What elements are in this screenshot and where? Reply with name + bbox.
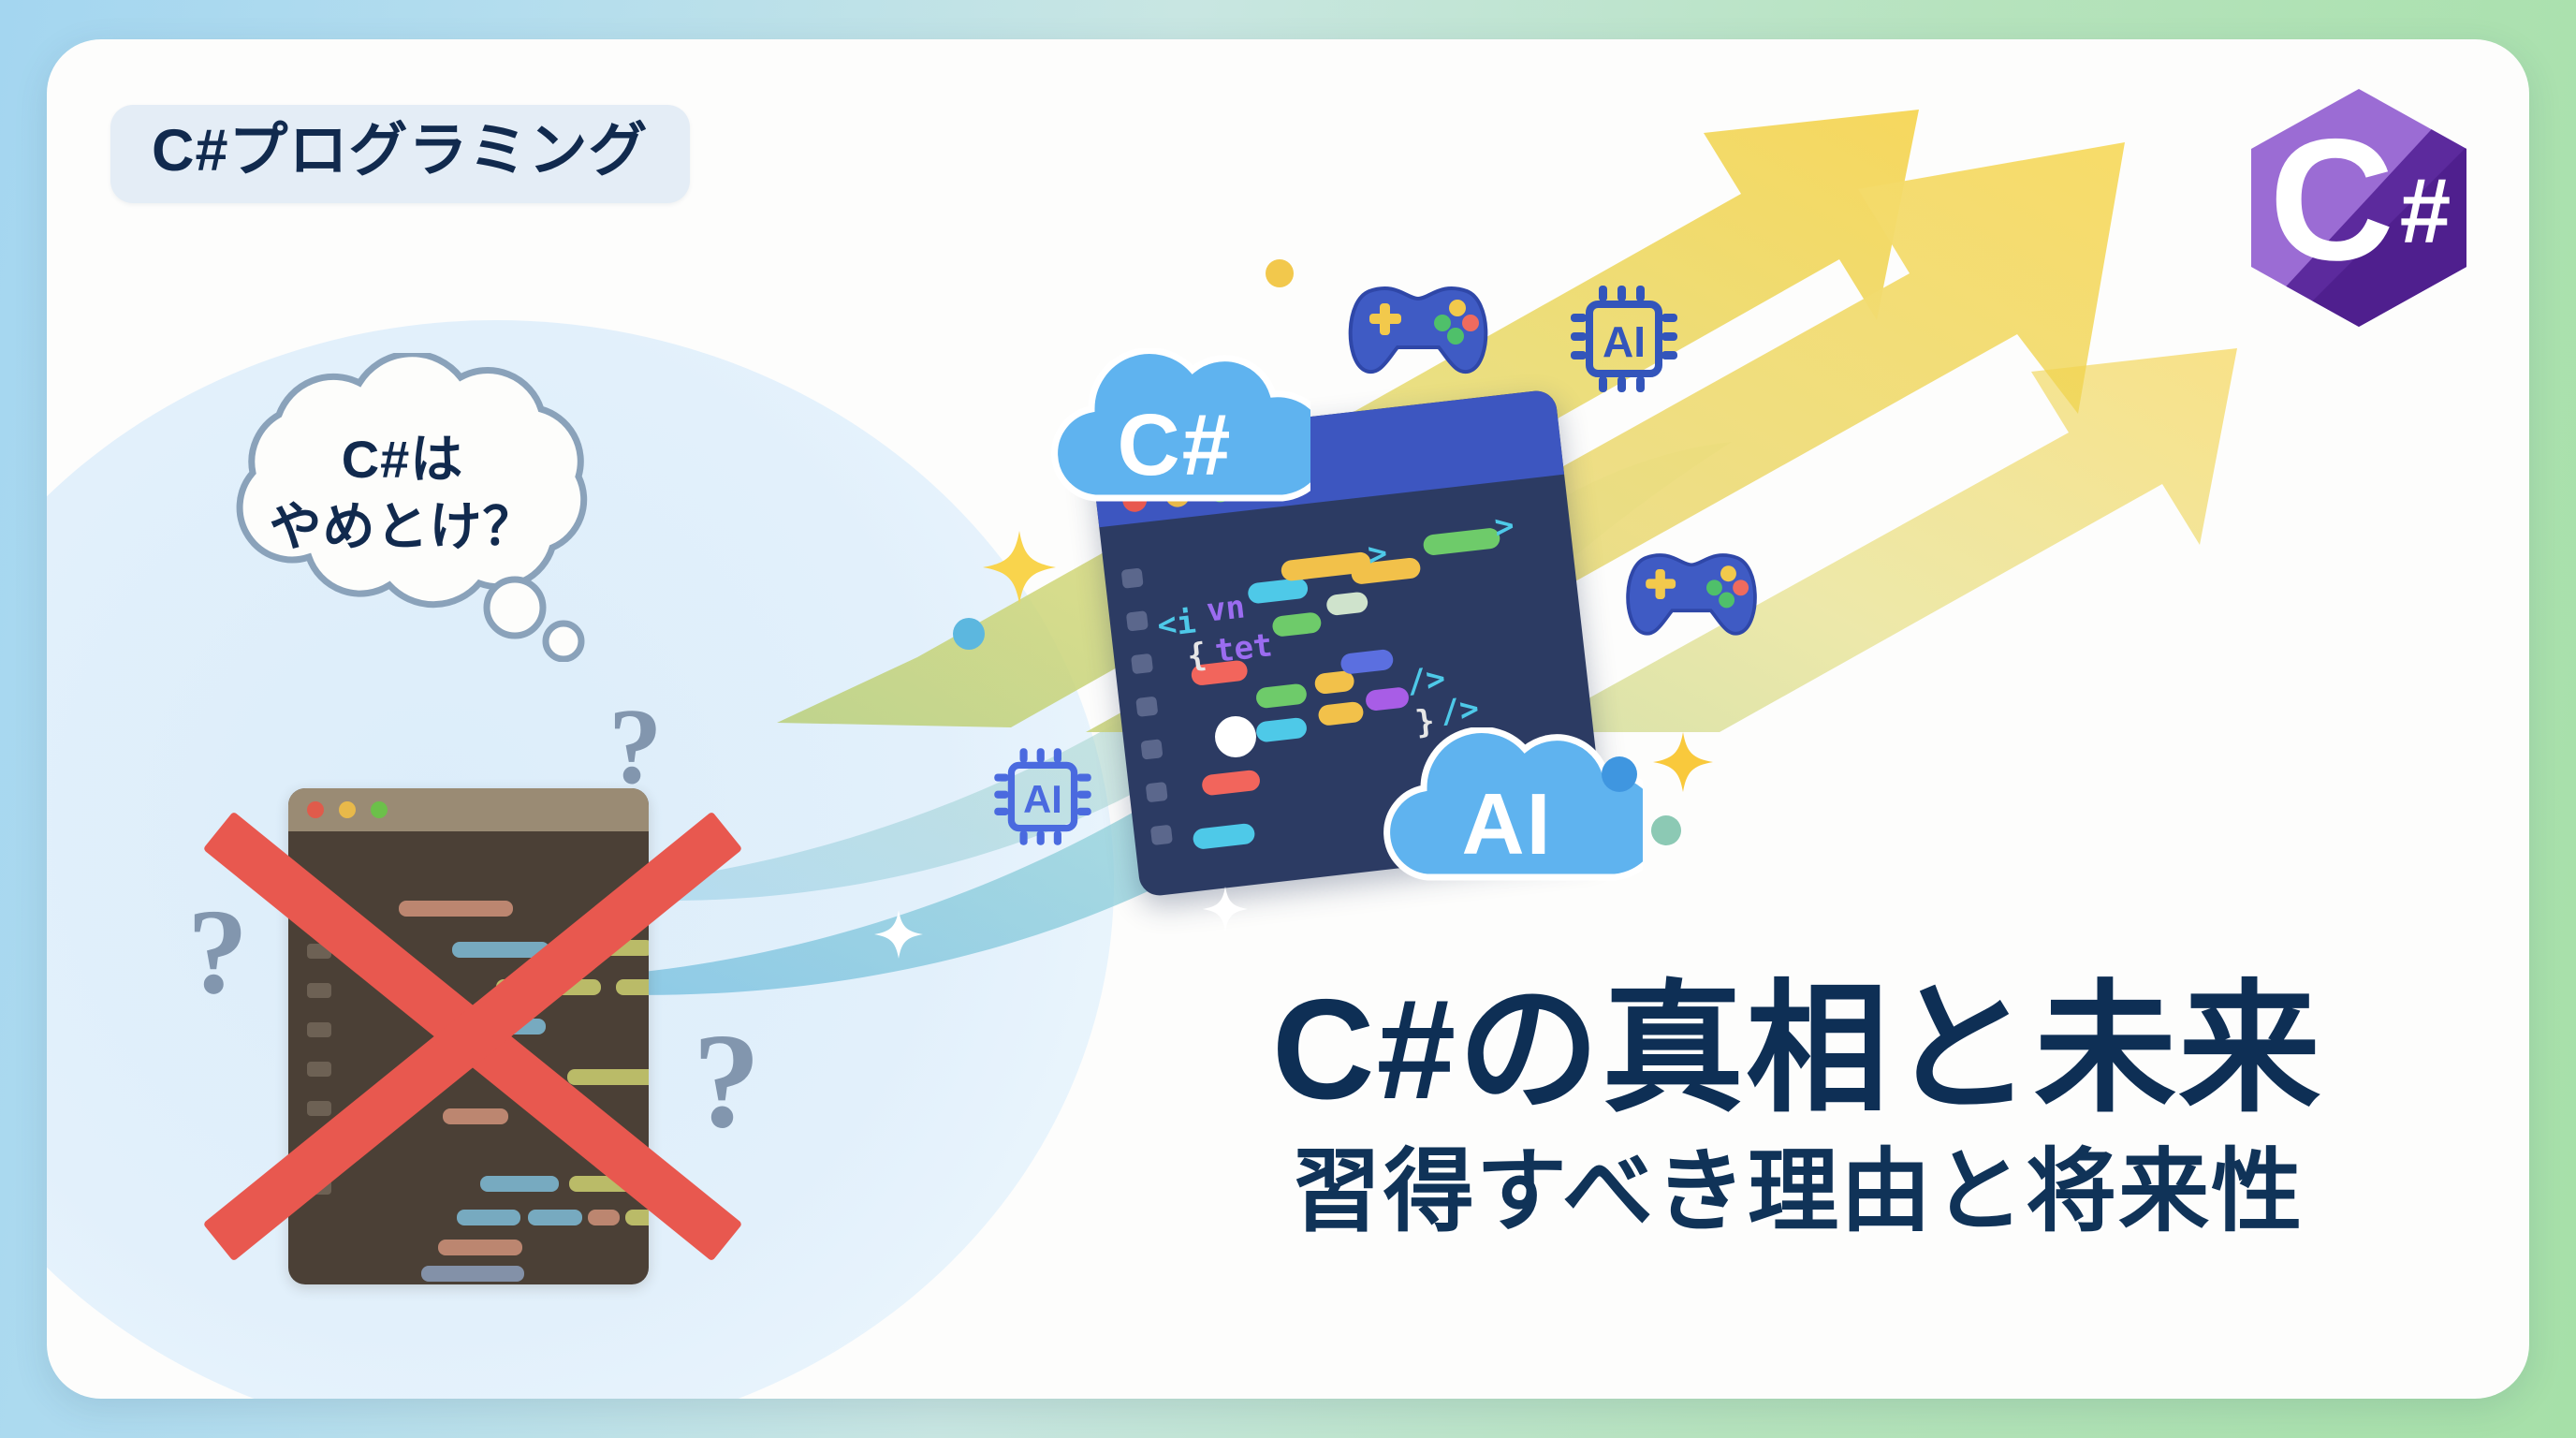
cloud-ai-label: AI [1371, 727, 1643, 906]
sparkle-icon [874, 910, 923, 963]
question-mark-icon: ? [693, 1004, 761, 1159]
deprecated-code-window [288, 788, 649, 1284]
cloud-csharp-label: C# [1039, 348, 1310, 527]
chip-ai-left-icon: AI [988, 741, 1098, 857]
csharp-logo-icon: C # [2242, 81, 2476, 334]
headline-block: C#の真相と未来 習得すべき理由と将来性 [1095, 976, 2499, 1241]
code-line-bar [1325, 591, 1368, 616]
question-mark-icon: ? [187, 882, 248, 1022]
thought-bubble: C#は やめとけ？ [159, 353, 646, 662]
deprecated-window-titlebar [288, 788, 649, 831]
svg-text:AI: AI [1603, 317, 1646, 366]
poster-card: C#プログラミング C#は やめとけ？ [47, 39, 2529, 1399]
code-line-bar [1192, 823, 1255, 850]
code-line-bar [528, 1210, 582, 1225]
category-badge-label: C#プログラミング [152, 118, 649, 183]
code-line-bar [1339, 649, 1394, 675]
sparkle-icon [1653, 732, 1713, 797]
code-line-bar [1255, 717, 1308, 743]
code-line-bar [588, 1210, 620, 1225]
code-line-bar [471, 1019, 546, 1034]
code-line-bar [567, 1069, 649, 1085]
page-subtitle: 習得すべき理由と将来性 [1095, 1142, 2499, 1242]
question-mark-icon: ? [608, 685, 663, 809]
svg-text:AI: AI [1023, 777, 1062, 821]
gamepad-top-icon [1341, 278, 1496, 381]
code-token: > [1493, 506, 1516, 546]
decorative-dot [1651, 815, 1681, 845]
csharp-logo-sharp: # [2400, 159, 2452, 262]
thought-bubble-text: C#は やめとけ？ [159, 426, 646, 560]
code-line-bar [399, 901, 513, 917]
code-line-bar [625, 1210, 649, 1225]
category-badge: C#プログラミング [110, 105, 690, 203]
code-line-bar [443, 1108, 508, 1124]
page-title: C#の真相と未来 [1095, 976, 2499, 1125]
sparkle-icon [1203, 887, 1248, 936]
code-line-bar [1247, 578, 1309, 605]
code-line-bar [480, 1176, 559, 1192]
decorative-dot [1602, 756, 1637, 792]
cloud-csharp-icon: C# [1039, 348, 1310, 512]
code-line-bar [569, 940, 649, 956]
thought-bubble-line1: C#は [159, 426, 646, 493]
code-line-bar [452, 942, 549, 958]
code-line-bar [569, 1176, 649, 1192]
code-line-bar [496, 979, 601, 995]
deprecated-window-body [288, 831, 649, 1284]
decorative-dot [953, 618, 985, 650]
decorative-dot [1266, 259, 1294, 287]
code-token: { [1185, 636, 1208, 675]
code-line-bar [1201, 770, 1261, 797]
traffic-light-green-icon [371, 801, 388, 818]
traffic-light-yellow-icon [339, 801, 356, 818]
code-token: tet [1213, 626, 1275, 670]
code-line-bar [421, 1266, 524, 1282]
code-line-bar [438, 1240, 522, 1255]
code-line-bar [1255, 682, 1308, 709]
code-line-bar [457, 1210, 520, 1225]
cloud-ai-icon: AI [1371, 727, 1643, 891]
code-line-bar [1317, 701, 1364, 726]
thought-bubble-line2: やめとけ？ [159, 493, 646, 561]
code-token: vn [1205, 588, 1247, 629]
code-token: > [1366, 535, 1389, 574]
sparkle-icon [983, 531, 1056, 609]
csharp-logo-letter: C [2269, 104, 2394, 297]
code-line-bar [616, 979, 649, 995]
poster-canvas: C#プログラミング C#は やめとけ？ [0, 0, 2576, 1438]
code-line-bar [1365, 686, 1410, 712]
chip-ai-top-icon: AI [1563, 278, 1685, 404]
decorative-dot [1215, 716, 1256, 757]
code-line-bar [1423, 527, 1501, 556]
code-token: /> [1439, 690, 1481, 731]
deprecated-window-gutter [307, 904, 331, 1195]
traffic-light-red-icon [307, 801, 324, 818]
code-line-bar [1271, 611, 1322, 638]
gamepad-mid-icon [1619, 545, 1764, 643]
